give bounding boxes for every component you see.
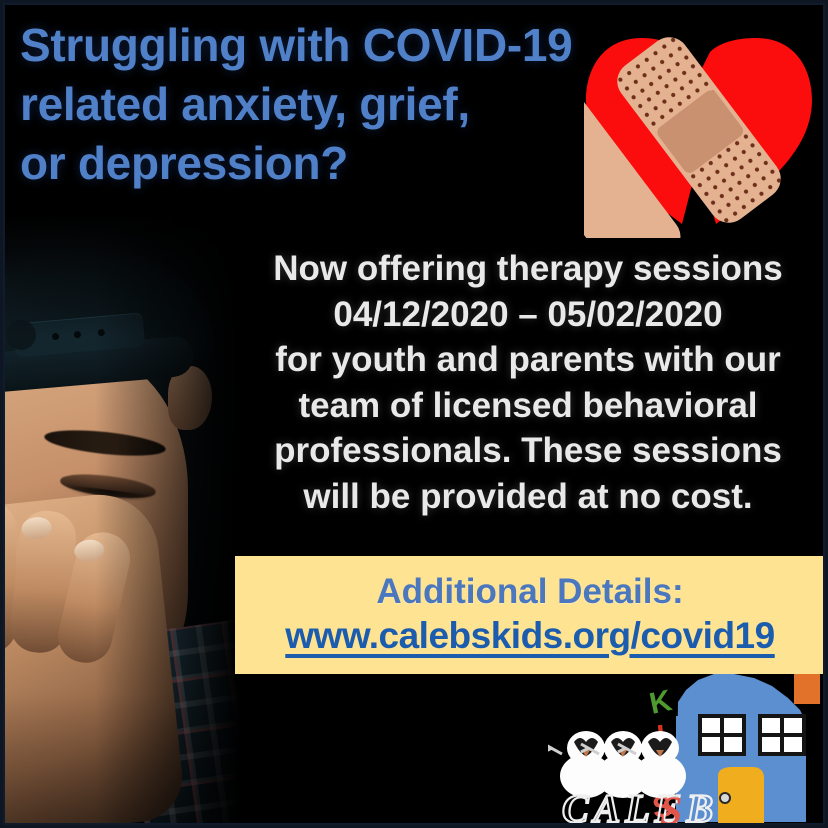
poster-canvas: Struggling with COVID-19 related anxiety… bbox=[0, 0, 828, 828]
calebs-kids-logo: K I D S bbox=[548, 672, 828, 828]
headline-line-3: or depression? bbox=[20, 134, 700, 193]
body-line-5: professionals. These sessions bbox=[238, 428, 818, 474]
logo-wordmark-caleb: CALEB bbox=[562, 786, 718, 828]
logo-wordmark-s: S bbox=[660, 788, 682, 828]
additional-details-label: Additional Details: bbox=[376, 574, 683, 611]
house-window-right bbox=[760, 716, 804, 754]
headline-line-2: related anxiety, grief, bbox=[20, 75, 700, 134]
house-window-left bbox=[700, 716, 744, 754]
distressed-man-photo bbox=[0, 214, 250, 828]
body-line-3: for youth and parents with our bbox=[238, 337, 818, 383]
body-line-2-dates: 04/12/2020 – 05/02/2020 bbox=[238, 292, 818, 338]
headline-line-1: Struggling with COVID-19 bbox=[20, 16, 700, 75]
kids-letter-k: K bbox=[647, 684, 675, 721]
body-line-1: Now offering therapy sessions bbox=[238, 246, 818, 292]
house-door bbox=[718, 767, 764, 824]
photo-vignette bbox=[0, 214, 250, 828]
chimney bbox=[794, 674, 820, 704]
body-line-6: will be provided at no cost. bbox=[238, 474, 818, 520]
website-link[interactable]: www.calebskids.org/covid19 bbox=[285, 615, 774, 656]
page-title: Struggling with COVID-19 related anxiety… bbox=[20, 16, 700, 193]
additional-details-banner: Additional Details: www.calebskids.org/c… bbox=[235, 556, 825, 674]
body-copy: Now offering therapy sessions 04/12/2020… bbox=[238, 246, 818, 519]
body-line-4: team of licensed behavioral bbox=[238, 383, 818, 429]
